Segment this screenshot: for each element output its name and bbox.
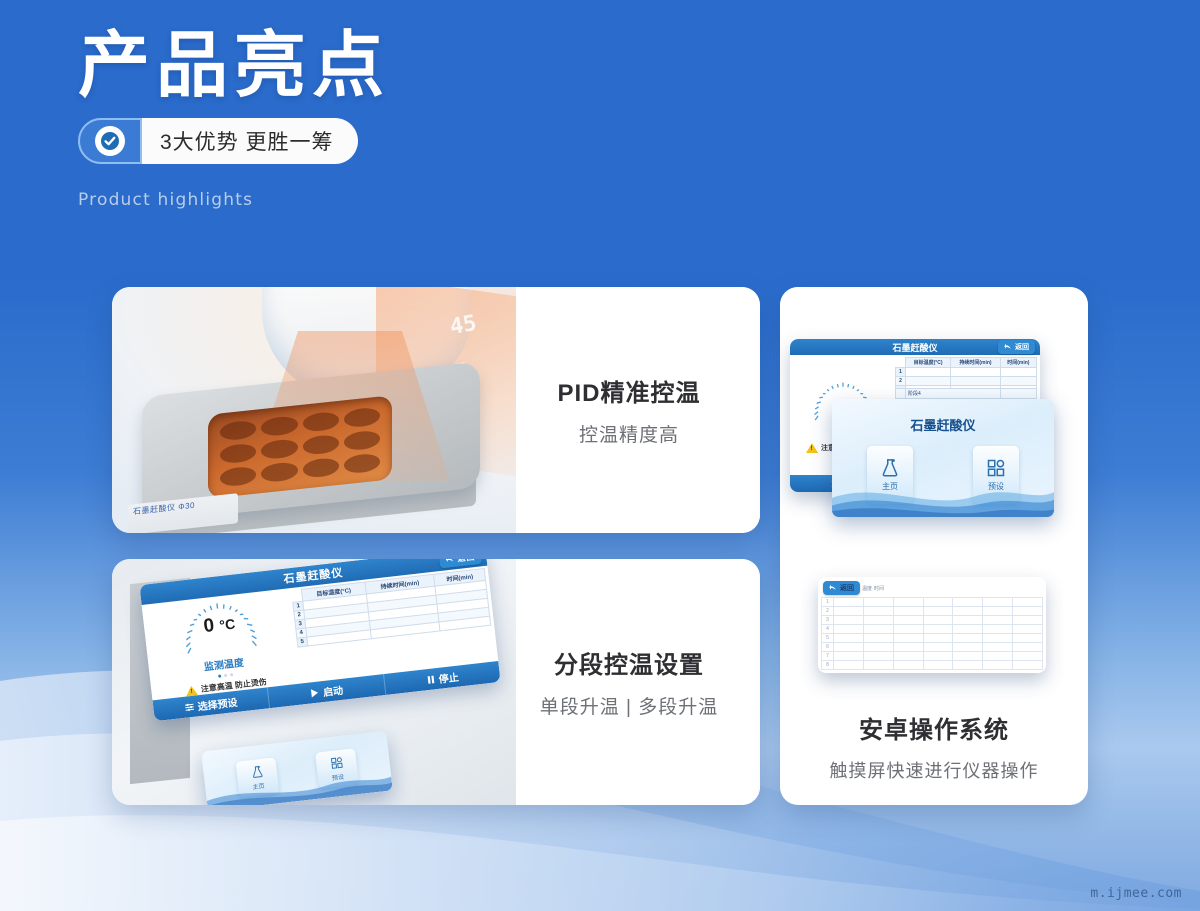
table-row: 6 <box>822 643 1043 652</box>
home-dialog-title: 石墨赶酸仪 <box>832 399 1054 434</box>
sample-well <box>261 461 297 483</box>
gauge-value: 0 °C <box>202 613 236 638</box>
card-segmented-temperature-setting[interactable]: 石墨赶酸仪 返回 <box>112 559 760 805</box>
preset-grid-table[interactable]: 1 2 3 4 5 6 7 8 <box>821 597 1043 670</box>
grid-icon <box>329 755 343 769</box>
sample-well <box>261 415 297 437</box>
watermark: m.ijmee.com <box>1090 886 1182 901</box>
card-pid-temperature-control[interactable]: 45 55 <box>112 287 760 533</box>
table-row: 1 <box>822 598 1043 607</box>
select-preset-label: 选择预设 <box>197 694 238 713</box>
highlight-cards: 45 55 <box>112 287 1088 805</box>
home-dialog-front[interactable]: 石墨赶酸仪 主页 <box>832 399 1054 517</box>
gauge-unit: °C <box>219 616 236 634</box>
grid-col-temp: 温度 <box>862 585 872 592</box>
sample-well <box>344 453 380 475</box>
page-header: 产品亮点 3大优势 更胜一筹 Product highlights <box>78 26 638 210</box>
table-row: 2 <box>896 377 1037 386</box>
temperature-gauge: 0 °C <box>172 592 266 660</box>
screen-title: 石墨赶酸仪 <box>892 341 937 354</box>
sample-well <box>220 420 256 442</box>
table-row: 5 <box>822 634 1043 643</box>
page-dot[interactable] <box>218 675 221 678</box>
warning-triangle-icon <box>806 443 818 453</box>
card-text-pid: PID精准控温 控温精度高 <box>516 287 760 533</box>
play-icon <box>310 687 321 698</box>
table-header-row: 目标温度(°C) 持续时间(min) 时间(min) <box>896 358 1037 368</box>
product-photo-heating-block: 45 55 <box>112 287 516 533</box>
cards-right-column: 石墨赶酸仪 返回 <box>780 287 1088 805</box>
card-subtitle: 控温精度高 <box>579 420 679 447</box>
grid-col-time: 时间 <box>874 585 884 592</box>
page-dots <box>218 673 233 678</box>
table-row: 2 <box>822 607 1043 616</box>
badge-label: 3大优势 更胜一筹 <box>142 118 358 164</box>
table-row: 4 <box>822 625 1043 634</box>
device-screens-stack: 石墨赶酸仪 返回 <box>780 287 1088 704</box>
back-button[interactable]: 返回 <box>998 340 1035 354</box>
col-duration: 持续时间(min) <box>951 358 1001 368</box>
device-screen-grid[interactable]: 返回 温度 时间 1 2 3 4 5 6 7 8 <box>818 577 1046 673</box>
card-text-android: 安卓操作系统 触摸屏快速进行仪器操作 <box>780 704 1088 805</box>
page-title: 产品亮点 <box>78 26 638 104</box>
card-text-segmented: 分段控温设置 单段升温 | 多段升温 <box>516 559 760 805</box>
flask-icon <box>250 764 264 778</box>
check-circle-icon <box>95 126 125 156</box>
sample-well <box>303 411 339 433</box>
device-screen-photo: 石墨赶酸仪 返回 <box>112 559 516 805</box>
back-arrow-icon <box>829 584 837 592</box>
back-label: 返回 <box>457 559 476 564</box>
sample-well <box>303 434 339 456</box>
pause-icon <box>425 674 436 685</box>
card-title: 分段控温设置 <box>554 645 704 680</box>
wave-decoration <box>832 473 1054 517</box>
back-label: 返回 <box>840 583 854 593</box>
table-row: 8 <box>822 661 1043 670</box>
sample-well <box>344 407 380 429</box>
back-label: 返回 <box>1015 342 1029 352</box>
badge-icon-holder <box>78 118 142 164</box>
back-arrow-icon <box>445 559 455 565</box>
sample-well <box>261 438 297 460</box>
warning-triangle-icon <box>185 685 198 696</box>
back-button[interactable]: 返回 <box>823 581 860 595</box>
col-target-temp: 目标温度(°C) <box>906 358 951 368</box>
preset-row: 阶段4 <box>896 389 1037 399</box>
back-arrow-icon <box>1004 343 1012 351</box>
card-title: 安卓操作系统 <box>790 710 1078 745</box>
col-time: 时间(min) <box>1000 358 1036 368</box>
page-dot[interactable] <box>223 674 226 677</box>
gauge-number: 0 <box>202 615 215 637</box>
highlight-badge: 3大优势 更胜一筹 <box>78 118 358 164</box>
table-row: 7 <box>822 652 1043 661</box>
start-label: 启动 <box>322 682 344 699</box>
card-title: PID精准控温 <box>557 373 700 408</box>
display-digit-1: 45 <box>448 311 478 340</box>
page-subtitle: Product highlights <box>78 190 638 210</box>
table-row: 3 <box>822 616 1043 625</box>
stop-label: 停止 <box>438 669 460 686</box>
card-android-operating-system[interactable]: 石墨赶酸仪 返回 <box>780 287 1088 805</box>
card-subtitle: 单段升温 | 多段升温 <box>540 692 719 719</box>
page-dot[interactable] <box>229 673 232 676</box>
card-subtitle: 触摸屏快速进行仪器操作 <box>790 757 1078 783</box>
sample-well <box>220 443 256 465</box>
sample-well <box>220 466 256 488</box>
table-row: 1 <box>896 368 1037 377</box>
sample-well <box>303 457 339 479</box>
preset-label[interactable]: 阶段4 <box>906 389 1001 399</box>
cards-left-column: 45 55 <box>112 287 760 805</box>
sliders-icon <box>184 701 195 712</box>
sample-well <box>344 430 380 452</box>
